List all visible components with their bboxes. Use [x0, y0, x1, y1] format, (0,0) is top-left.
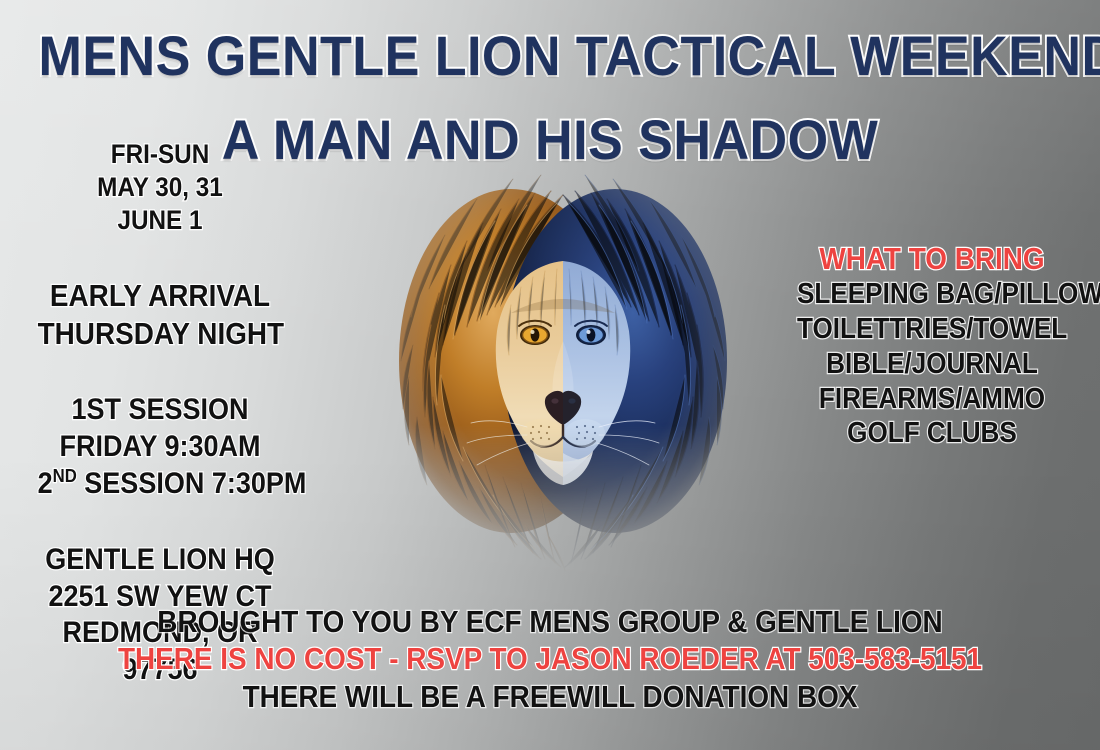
venue-name: GENTLE LION HQ — [38, 542, 283, 579]
early-arrival-label: EARLY ARRIVAL — [38, 277, 283, 315]
session-two-time: SESSION 7:30PM — [77, 467, 307, 500]
bring-item: BIBLE/JOURNAL — [797, 347, 1067, 382]
page-title: MENS GENTLE LION TACTICAL WEEKEND — [39, 28, 1062, 84]
dates-may: MAY 30, 31 — [38, 171, 283, 204]
footer-block: BROUGHT TO YOU BY ECF MENS GROUP & GENTL… — [0, 603, 1100, 716]
dates-block: FRI-SUN MAY 30, 31 JUNE 1 — [24, 138, 296, 237]
rsvp-line: THERE IS NO COST - RSVP TO JASON ROEDER … — [55, 640, 1045, 678]
session-one-time: FRIDAY 9:30AM — [38, 429, 283, 466]
split-face-lion-image — [383, 165, 743, 585]
bring-item: FIREARMS/AMMO — [797, 382, 1067, 417]
bring-item: GOLF CLUBS — [797, 416, 1067, 451]
dates-june: JUNE 1 — [38, 204, 283, 237]
donation-box-line: THERE WILL BE A FREEWILL DONATION BOX — [55, 678, 1045, 716]
session-two-ordinal: ND — [53, 465, 77, 486]
session-one-label: 1ST SESSION — [38, 392, 283, 429]
early-arrival-block: EARLY ARRIVAL THURSDAY NIGHT — [24, 277, 296, 353]
sessions-block: 1ST SESSION FRIDAY 9:30AM 2ND SESSION 7:… — [24, 392, 296, 502]
what-to-bring-column: WHAT TO BRING SLEEPING BAG/PILLOW TOILET… — [782, 240, 1082, 451]
session-two-line: 2ND SESSION 7:30PM — [38, 466, 283, 503]
brought-to-you-by-line: BROUGHT TO YOU BY ECF MENS GROUP & GENTL… — [55, 603, 1045, 641]
bring-item: SLEEPING BAG/PILLOW — [797, 277, 1067, 312]
poster-canvas: MENS GENTLE LION TACTICAL WEEKEND A MAN … — [0, 0, 1100, 750]
session-two-number: 2 — [38, 467, 53, 500]
bring-item: TOILETTRIES/TOWEL — [797, 312, 1067, 347]
early-arrival-night: THURSDAY NIGHT — [38, 315, 283, 353]
dates-day-range: FRI-SUN — [38, 138, 283, 171]
what-to-bring-heading: WHAT TO BRING — [797, 240, 1067, 277]
